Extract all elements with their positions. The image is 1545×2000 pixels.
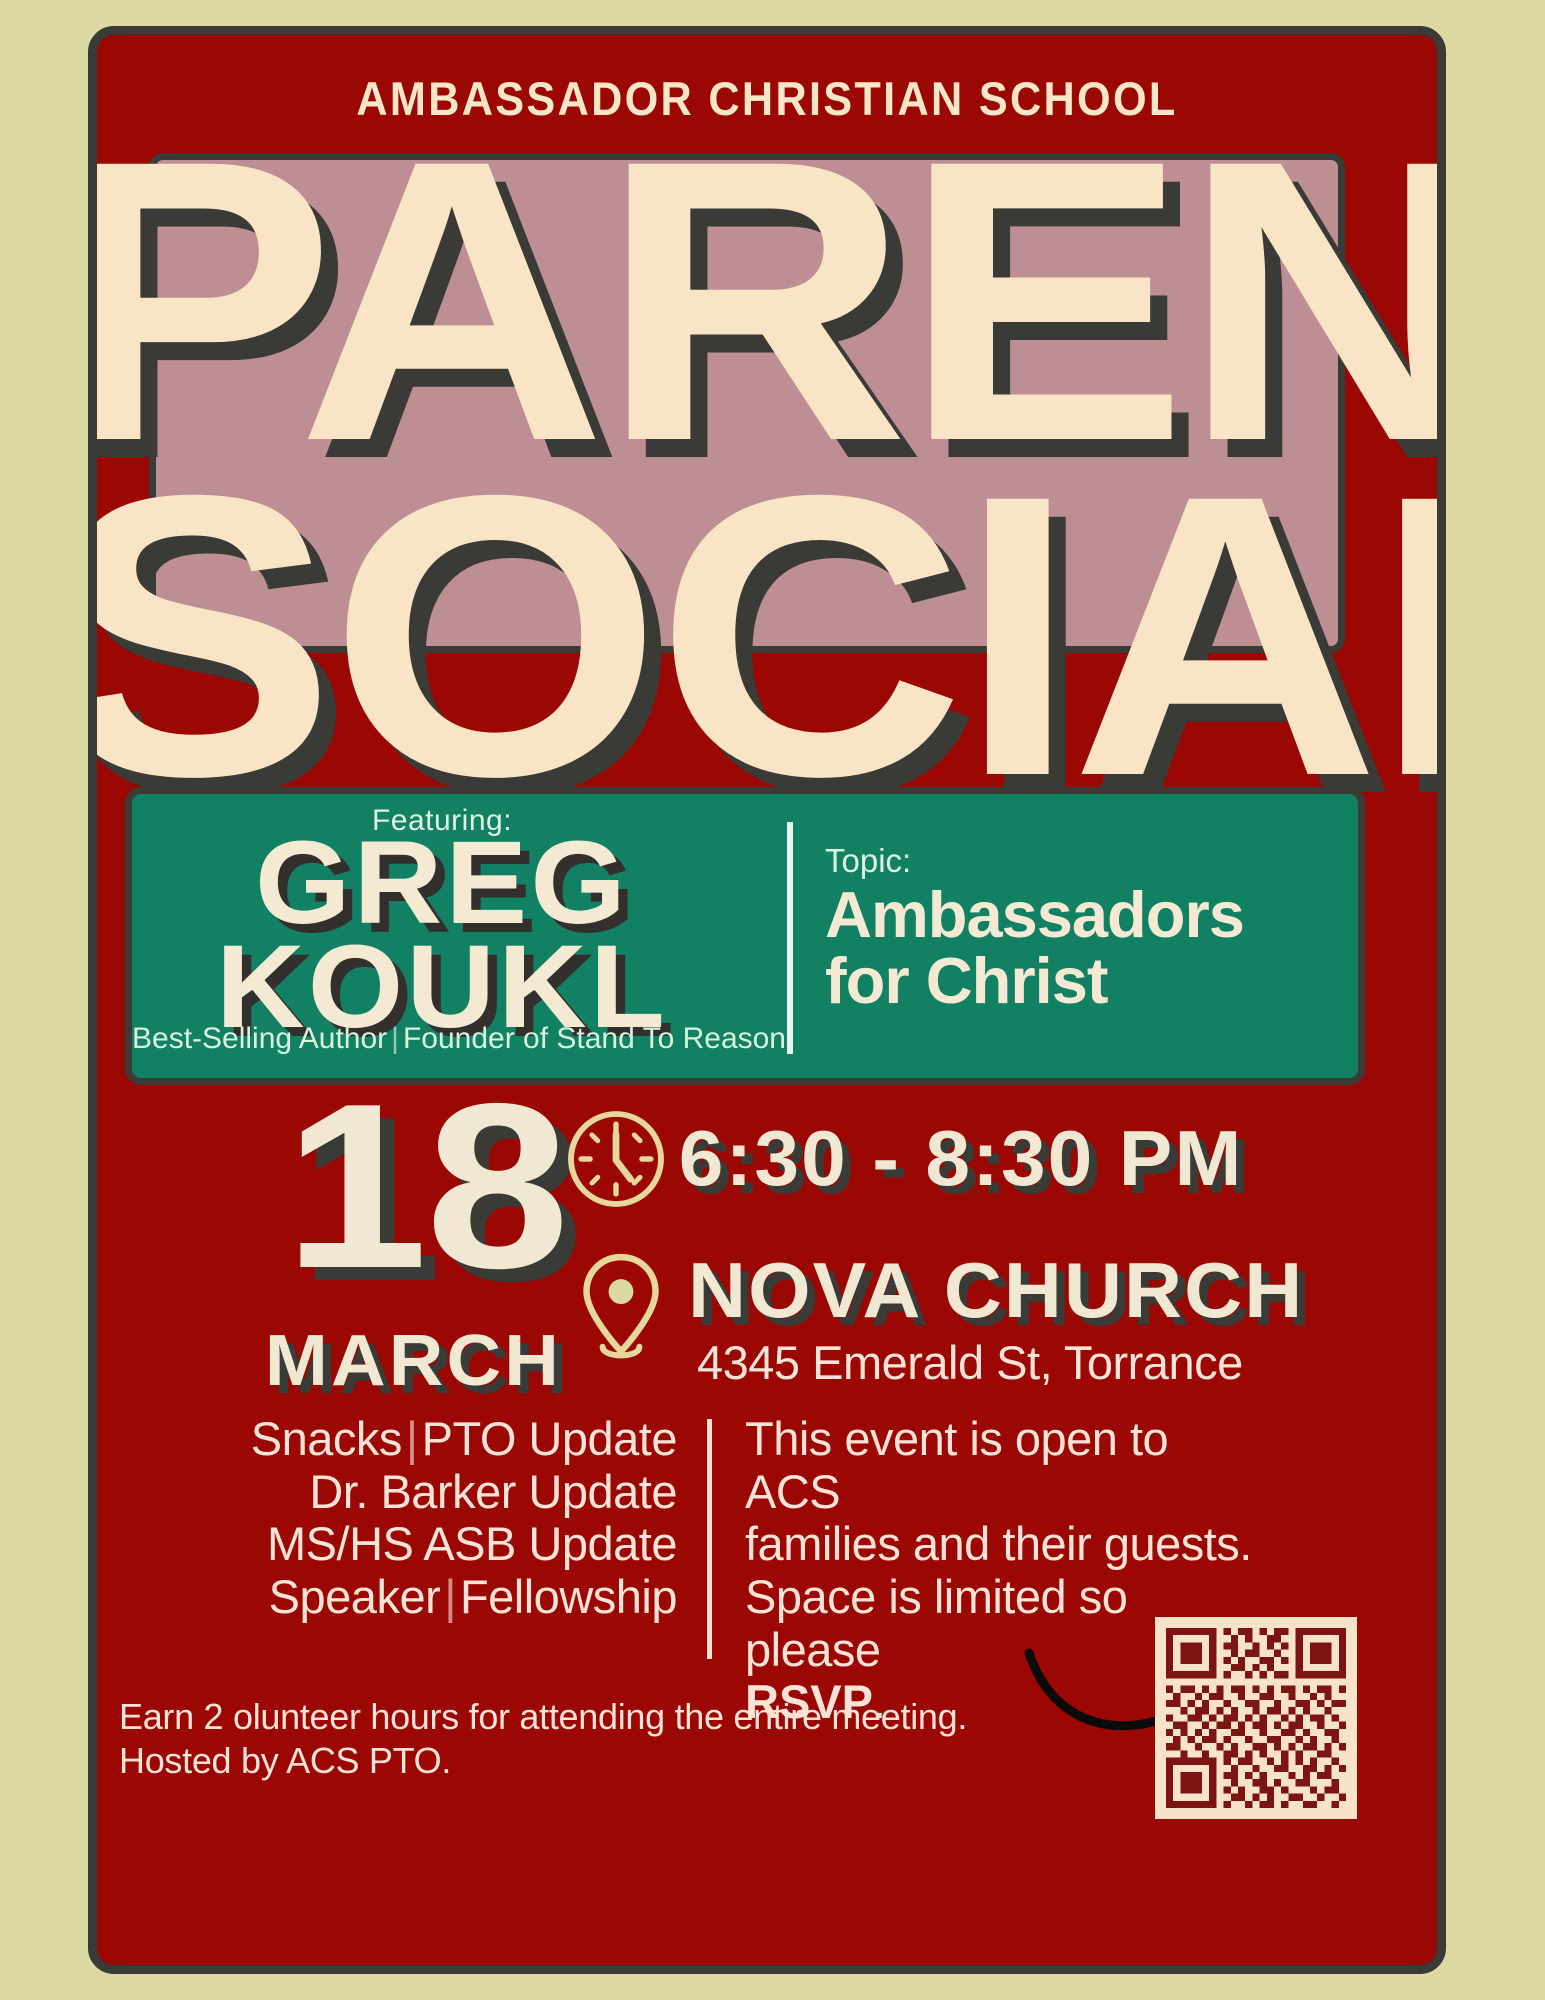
event-time: 6:30 - 8:30 PM <box>679 1113 1244 1204</box>
rsvp-qr-code[interactable] <box>1155 1617 1357 1819</box>
agenda-item: Fellowship <box>460 1570 677 1623</box>
agenda-item: PTO Update <box>422 1412 677 1465</box>
agenda-separator: | <box>440 1570 460 1623</box>
agenda-item: Speaker <box>269 1570 441 1623</box>
topic-value: Ambassadors for Christ <box>825 882 1244 1015</box>
topic-label: Topic: <box>825 842 911 880</box>
poster-title: PARENT SOCIAL <box>97 135 1437 865</box>
clock-icon <box>562 1105 670 1218</box>
footer-line-1: Earn 2 olunteer hours for attending the … <box>119 1695 967 1739</box>
agenda-row: Speaker|Fellowship <box>157 1571 677 1624</box>
speaker-panel: Featuring: GREG KOUKL Best-Selling Autho… <box>125 787 1365 1085</box>
poster-card: AMBASSADOR CHRISTIAN SCHOOL PARENT SOCIA… <box>88 26 1446 1974</box>
agenda-item: MS/HS ASB Update <box>267 1517 677 1570</box>
credential-separator: | <box>387 1022 403 1055</box>
event-month: MARCH <box>265 1320 562 1402</box>
credential-founder: Founder of Stand To Reason <box>403 1022 786 1055</box>
event-details: 18 MARCH 6:30 - 8:30 PM <box>97 1095 1437 1405</box>
agenda-row: Dr. Barker Update <box>157 1466 677 1519</box>
map-pin-icon <box>575 1250 667 1375</box>
credential-author: Best-Selling Author <box>132 1022 387 1055</box>
event-day: 18 <box>284 1087 567 1284</box>
agenda-row: MS/HS ASB Update <box>157 1518 677 1571</box>
footer-note: Earn 2 olunteer hours for attending the … <box>119 1695 967 1783</box>
agenda-item: Snacks <box>251 1412 402 1465</box>
note-line-2: families and their guests. <box>745 1518 1265 1571</box>
speaker-topic-divider <box>787 822 793 1054</box>
speaker-credentials: Best-Selling Author|Founder of Stand To … <box>132 1022 762 1056</box>
speaker-name: GREG KOUKL <box>120 832 765 1040</box>
footer-line-2: Hosted by ACS PTO. <box>119 1739 967 1783</box>
agenda-list: Snacks|PTO Update Dr. Barker Update MS/H… <box>157 1413 677 1624</box>
agenda-note-divider <box>707 1419 712 1659</box>
topic-line-1: Ambassadors <box>825 878 1244 951</box>
note-line-1: This event is open to ACS <box>745 1413 1265 1518</box>
title-line-parent: PARENT <box>88 145 1446 457</box>
title-line-social: SOCIAL <box>88 480 1446 792</box>
event-venue: NOVA CHURCH <box>688 1245 1304 1336</box>
agenda-row: Snacks|PTO Update <box>157 1413 677 1466</box>
agenda-separator: | <box>402 1412 422 1465</box>
event-address: 4345 Emerald St, Torrance <box>697 1335 1243 1390</box>
topic-line-2: for Christ <box>825 944 1108 1017</box>
agenda-item: Dr. Barker Update <box>309 1465 677 1518</box>
